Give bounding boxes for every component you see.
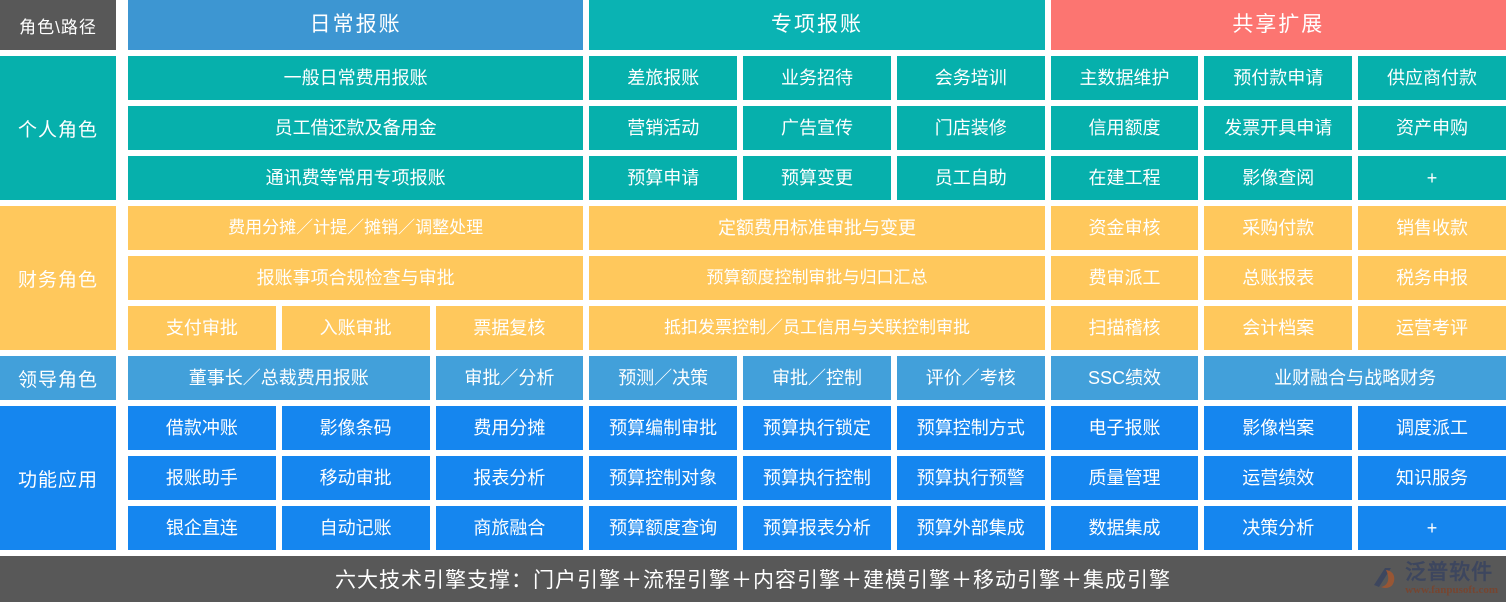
matrix-cell-label: 决策分析 [1242,518,1314,539]
matrix-cell-label: 扫描稽核 [1089,318,1161,339]
matrix-cell[interactable]: 决策分析 [1204,506,1352,550]
matrix-cell[interactable]: SSC绩效 [1051,356,1199,400]
matrix-cell[interactable]: 门店装修 [897,106,1045,150]
matrix-cell[interactable]: 董事长／总裁费用报账 [128,356,430,400]
matrix-cell-label: 运营考评 [1396,318,1468,339]
matrix-row: 董事长／总裁费用报账审批／分析预测／决策审批／控制评价／考核SSC绩效业财融合与… [128,356,1506,400]
matrix-cell-label: 影像条码 [320,418,392,439]
matrix-cell-label: 电子报账 [1088,418,1160,439]
matrix-cell[interactable]: 广告宣传 [743,106,891,150]
matrix-cell[interactable]: 采购付款 [1204,206,1352,250]
section-function: 功能应用借款冲账影像条码费用分摊预算编制审批预算执行锁定预算控制方式电子报账影像… [0,406,1506,550]
footer-bar: 六大技术引擎支撑：门户引擎＋流程引擎＋内容引擎＋建模引擎＋移动引擎＋集成引擎 泛… [0,556,1506,602]
matrix-cell-label: 预算外部集成 [917,518,1025,539]
matrix-cell-label: 报表分析 [473,468,545,489]
matrix-cell[interactable]: 电子报账 [1051,406,1199,450]
matrix-cell[interactable]: 预算执行预警 [897,456,1045,500]
matrix-cell-label: 预算控制方式 [917,418,1025,439]
role-label-text: 领导角色 [18,365,98,392]
role-label-text: 功能应用 [18,465,98,492]
column-header-1[interactable]: 日常报账 [128,0,583,50]
matrix-cell[interactable]: 预付款申请 [1204,56,1352,100]
matrix-cell-label: 预算编制审批 [609,418,717,439]
column-header-2[interactable]: 专项报账 [589,0,1044,50]
matrix-cell[interactable]: 预算变更 [743,156,891,200]
matrix-cell[interactable]: 预算控制方式 [897,406,1045,450]
column-header-label: 专项报账 [771,13,863,37]
matrix-cell[interactable]: 调度派工 [1358,406,1506,450]
matrix-cell-label: 审批／控制 [772,368,862,389]
column-header-label: 日常报账 [310,13,402,37]
matrix-cell-label: 调度派工 [1396,418,1468,439]
logo-company-name: 泛普软件 [1405,562,1493,583]
matrix-cell-label: 票据复核 [473,318,545,339]
matrix-cell[interactable]: 供应商付款 [1358,56,1506,100]
section-rows: 董事长／总裁费用报账审批／分析预测／决策审批／控制评价／考核SSC绩效业财融合与… [128,356,1506,400]
matrix-cell[interactable]: 定额费用标准审批与变更 [589,206,1044,250]
matrix-cell[interactable]: 费审派工 [1051,256,1199,300]
matrix-cell[interactable]: 信用额度 [1051,106,1199,150]
matrix-cell-label: 营销活动 [627,118,699,139]
matrix-cell-label: 广告宣传 [781,118,853,139]
matrix-cell[interactable]: + [1358,506,1506,550]
matrix-cell[interactable]: 预算额度控制审批与归口汇总 [589,256,1044,300]
matrix-row: 员工借还款及备用金营销活动广告宣传门店装修信用额度发票开具申请资产申购 [128,106,1506,150]
matrix-cell-label: 费用分摊 [473,418,545,439]
matrix-cell-label: 发票开具申请 [1224,118,1332,139]
matrix-cell-label: 通讯费等常用专项报账 [266,168,446,189]
matrix-cell[interactable]: 审批／分析 [436,356,584,400]
matrix-cell-label: 销售收款 [1396,218,1468,239]
matrix-cell[interactable]: 预算编制审批 [589,406,737,450]
matrix-cell-label: 会计档案 [1242,318,1314,339]
section-rows: 一般日常费用报账差旅报账业务招待会务培训主数据维护预付款申请供应商付款员工借还款… [128,56,1506,200]
matrix-cell-label: 预算额度查询 [609,518,717,539]
matrix-cell[interactable]: 资金审核 [1051,206,1199,250]
matrix-cell[interactable]: 预算外部集成 [897,506,1045,550]
matrix-cell[interactable]: 一般日常费用报账 [128,56,583,100]
matrix-cell-label: 支付审批 [166,318,238,339]
matrix-cell-label: 自动记账 [320,518,392,539]
role-label-finance[interactable]: 财务角色 [0,206,116,350]
matrix-cell[interactable]: 员工自助 [897,156,1045,200]
matrix-cell[interactable]: 预算申请 [589,156,737,200]
matrix-cell-label: 采购付款 [1242,218,1314,239]
matrix-cell[interactable]: 知识服务 [1358,456,1506,500]
matrix-cell[interactable]: 抵扣发票控制／员工信用与关联控制审批 [589,306,1044,350]
column-gap [116,356,128,400]
logo-website-url: www.fanpusoft.com [1405,585,1498,596]
matrix-cell[interactable]: 业财融合与战略财务 [1204,356,1506,400]
fanpu-logo-icon [1371,565,1401,593]
matrix-cell-label: 数据集成 [1088,518,1160,539]
matrix-cell[interactable]: 质量管理 [1051,456,1199,500]
section-rows: 费用分摊／计提／摊销／调整处理定额费用标准审批与变更资金审核采购付款销售收款报账… [128,206,1506,350]
matrix-cell[interactable]: 报账助手 [128,456,276,500]
matrix-row: 一般日常费用报账差旅报账业务招待会务培训主数据维护预付款申请供应商付款 [128,56,1506,100]
matrix-cell-label: 预算变更 [781,168,853,189]
corner-header-label: 角色\路径 [19,13,97,38]
capability-matrix: 角色\路径日常报账专项报账共享扩展 个人角色一般日常费用报账差旅报账业务招待会务… [0,0,1506,615]
matrix-cell-label: 银企直连 [166,518,238,539]
matrix-cell-label: 税务申报 [1396,268,1468,289]
matrix-cell[interactable]: 支付审批 [128,306,276,350]
matrix-cell-label: 门店装修 [935,118,1007,139]
corner-header-cell: 角色\路径 [0,0,116,50]
matrix-cell[interactable]: 发票开具申请 [1204,106,1352,150]
matrix-cell[interactable]: 资产申购 [1358,106,1506,150]
column-gap [116,406,128,550]
matrix-cell-label: 预算执行控制 [763,468,871,489]
matrix-cell[interactable]: 报账事项合规检查与审批 [128,256,583,300]
matrix-cell[interactable]: 影像档案 [1204,406,1352,450]
matrix-cell[interactable]: 借款冲账 [128,406,276,450]
column-gap [116,206,128,350]
matrix-row: 借款冲账影像条码费用分摊预算编制审批预算执行锁定预算控制方式电子报账影像档案调度… [128,406,1506,450]
role-label-text: 财务角色 [18,265,98,292]
section-individual: 个人角色一般日常费用报账差旅报账业务招待会务培训主数据维护预付款申请供应商付款员… [0,56,1506,200]
role-label-function[interactable]: 功能应用 [0,406,116,550]
matrix-row: 银企直连自动记账商旅融合预算额度查询预算报表分析预算外部集成数据集成决策分析+ [128,506,1506,550]
matrix-cell-label: 会务培训 [935,68,1007,89]
matrix-cell-label: 业财融合与战略财务 [1274,368,1436,389]
matrix-row: 报账助手移动审批报表分析预算控制对象预算执行控制预算执行预警质量管理运营绩效知识… [128,456,1506,500]
logo-text: 泛普软件 www.fanpusoft.com [1405,562,1498,596]
matrix-cell-label: 预算报表分析 [763,518,871,539]
matrix-cell[interactable]: 业务招待 [743,56,891,100]
matrix-cell[interactable]: 税务申报 [1358,256,1506,300]
matrix-cell-label: 费用分摊／计提／摊销／调整处理 [228,218,483,238]
matrix-cell-label: 入账审批 [320,318,392,339]
matrix-cell-label: 预算执行锁定 [763,418,871,439]
matrix-cell[interactable]: 入账审批 [282,306,430,350]
matrix-cell-label: 预算申请 [627,168,699,189]
matrix-cell-label: 审批／分析 [464,368,554,389]
matrix-cell-label: 董事长／总裁费用报账 [189,368,369,389]
matrix-cell[interactable]: 自动记账 [282,506,430,550]
matrix-cell[interactable]: 评价／考核 [897,356,1045,400]
matrix-cell[interactable]: 预算额度查询 [589,506,737,550]
matrix-cell[interactable]: 票据复核 [436,306,584,350]
section-rows: 借款冲账影像条码费用分摊预算编制审批预算执行锁定预算控制方式电子报账影像档案调度… [128,406,1506,550]
column-header-3[interactable]: 共享扩展 [1051,0,1506,50]
matrix-cell-label: 员工自助 [935,168,1007,189]
matrix-cell-label: 预算额度控制审批与归口汇总 [706,268,927,288]
section-finance: 财务角色费用分摊／计提／摊销／调整处理定额费用标准审批与变更资金审核采购付款销售… [0,206,1506,350]
matrix-cell-label: 预算执行预警 [917,468,1025,489]
matrix-cell[interactable]: 扫描稽核 [1051,306,1199,350]
matrix-cell[interactable]: 总账报表 [1204,256,1352,300]
matrix-cell[interactable]: 会务培训 [897,56,1045,100]
header-row: 角色\路径日常报账专项报账共享扩展 [0,0,1506,50]
column-gap [116,0,128,50]
matrix-cell-label: 员工借还款及备用金 [275,118,437,139]
matrix-cell-label: 在建工程 [1089,168,1161,189]
matrix-cell[interactable]: 预算报表分析 [743,506,891,550]
matrix-cell-label: 费审派工 [1089,268,1161,289]
matrix-cell-label: 报账助手 [166,468,238,489]
matrix-cell[interactable]: 移动审批 [282,456,430,500]
matrix-cell-label: 预付款申请 [1233,68,1323,89]
matrix-cell-label: 一般日常费用报账 [284,68,428,89]
matrix-cell[interactable]: 差旅报账 [589,56,737,100]
matrix-cell[interactable]: 商旅融合 [436,506,584,550]
matrix-cell[interactable]: 营销活动 [589,106,737,150]
matrix-cell-label: 资金审核 [1089,218,1161,239]
matrix-cell[interactable]: + [1358,156,1506,200]
matrix-row: 费用分摊／计提／摊销／调整处理定额费用标准审批与变更资金审核采购付款销售收款 [128,206,1506,250]
matrix-cell-label: 资产申购 [1396,118,1468,139]
matrix-cell-label: 影像查阅 [1242,168,1314,189]
matrix-cell[interactable]: 审批／控制 [743,356,891,400]
section-leadership: 领导角色董事长／总裁费用报账审批／分析预测／决策审批／控制评价／考核SSC绩效业… [0,356,1506,400]
matrix-cell[interactable]: 通讯费等常用专项报账 [128,156,583,200]
matrix-cell-label: 移动审批 [320,468,392,489]
matrix-cell-label: 商旅融合 [473,518,545,539]
matrix-cell-label: 评价／考核 [926,368,1016,389]
matrix-cell[interactable]: 数据集成 [1051,506,1199,550]
matrix-row: 通讯费等常用专项报账预算申请预算变更员工自助在建工程影像查阅+ [128,156,1506,200]
matrix-cell-label: + [1427,168,1438,189]
matrix-cell[interactable]: 报表分析 [436,456,584,500]
matrix-cell-label: 质量管理 [1088,468,1160,489]
matrix-cell-label: 影像档案 [1242,418,1314,439]
matrix-cell-label: 差旅报账 [627,68,699,89]
matrix-cell-label: 定额费用标准审批与变更 [718,218,916,239]
matrix-cell-label: 业务招待 [781,68,853,89]
matrix-cell-label: 借款冲账 [166,418,238,439]
matrix-cell-label: SSC绩效 [1088,368,1161,389]
matrix-cell-label: 知识服务 [1396,468,1468,489]
matrix-cell-label: 预算控制对象 [609,468,717,489]
brand-logo[interactable]: 泛普软件 www.fanpusoft.com [1371,562,1498,596]
matrix-cell-label: 运营绩效 [1242,468,1314,489]
matrix-cell[interactable]: 运营绩效 [1204,456,1352,500]
matrix-cell[interactable]: 费用分摊 [436,406,584,450]
matrix-cell[interactable]: 运营考评 [1358,306,1506,350]
matrix-cell-label: 抵扣发票控制／员工信用与关联控制审批 [664,318,970,338]
matrix-cell[interactable]: 预测／决策 [589,356,737,400]
matrix-row: 报账事项合规检查与审批预算额度控制审批与归口汇总费审派工总账报表税务申报 [128,256,1506,300]
role-label-leadership[interactable]: 领导角色 [0,356,116,400]
matrix-cell-label: + [1427,518,1438,539]
matrix-cell[interactable]: 银企直连 [128,506,276,550]
matrix-cell[interactable]: 在建工程 [1051,156,1199,200]
matrix-sections: 个人角色一般日常费用报账差旅报账业务招待会务培训主数据维护预付款申请供应商付款员… [0,56,1506,556]
column-header-label: 共享扩展 [1232,13,1324,37]
matrix-cell[interactable]: 预算控制对象 [589,456,737,500]
role-label-text: 个人角色 [18,115,98,142]
matrix-cell[interactable]: 预算执行锁定 [743,406,891,450]
matrix-cell[interactable]: 销售收款 [1358,206,1506,250]
matrix-cell[interactable]: 影像条码 [282,406,430,450]
matrix-cell[interactable]: 影像查阅 [1204,156,1352,200]
matrix-cell-label: 预测／决策 [618,368,708,389]
matrix-cell[interactable]: 员工借还款及备用金 [128,106,583,150]
footer-text: 六大技术引擎支撑：门户引擎＋流程引擎＋内容引擎＋建模引擎＋移动引擎＋集成引擎 [335,564,1171,594]
role-label-individual[interactable]: 个人角色 [0,56,116,200]
matrix-cell-label: 供应商付款 [1387,68,1477,89]
column-gap [116,56,128,200]
matrix-cell[interactable]: 预算执行控制 [743,456,891,500]
matrix-row: 支付审批入账审批票据复核抵扣发票控制／员工信用与关联控制审批扫描稽核会计档案运营… [128,306,1506,350]
matrix-cell-label: 报账事项合规检查与审批 [257,268,455,289]
matrix-cell[interactable]: 会计档案 [1204,306,1352,350]
matrix-cell[interactable]: 费用分摊／计提／摊销／调整处理 [128,206,583,250]
matrix-cell[interactable]: 主数据维护 [1051,56,1199,100]
matrix-cell-label: 信用额度 [1089,118,1161,139]
matrix-cell-label: 总账报表 [1242,268,1314,289]
matrix-cell-label: 主数据维护 [1080,68,1170,89]
